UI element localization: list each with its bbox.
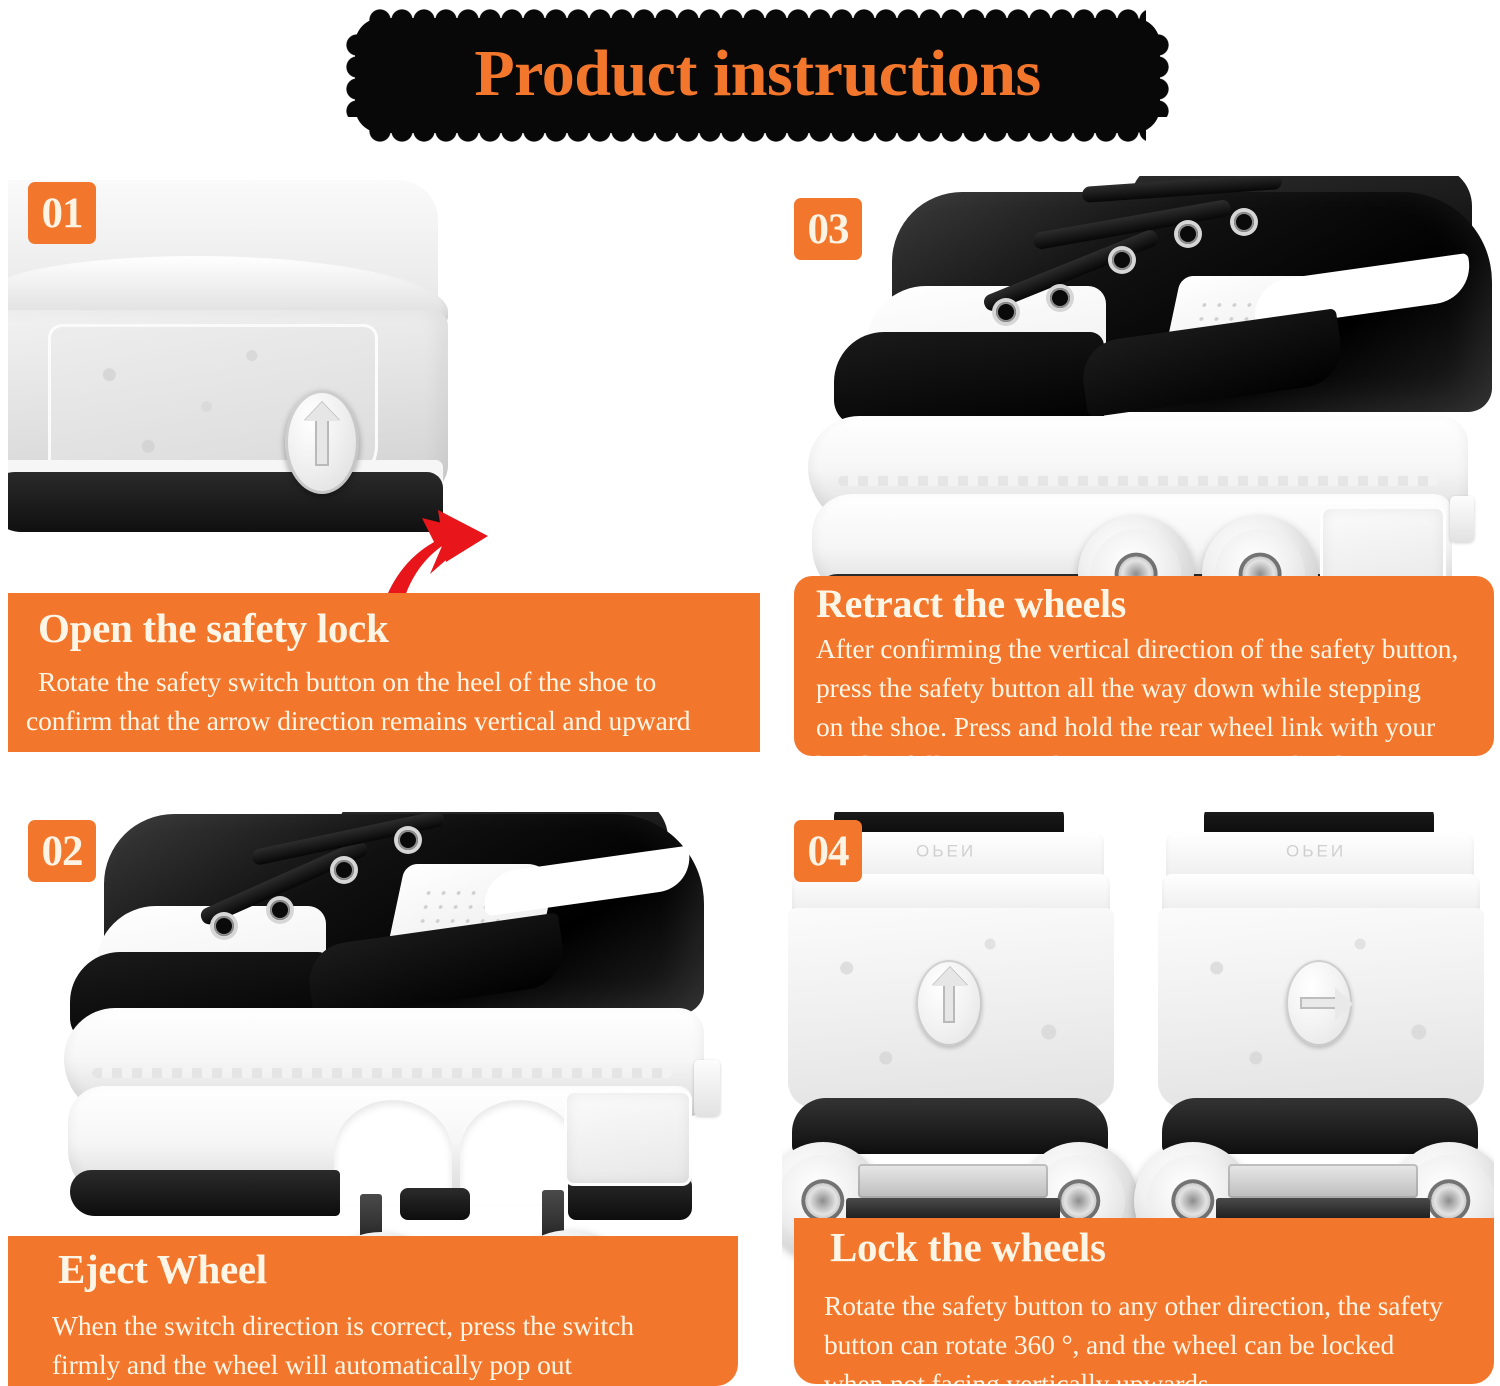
wheel-axle <box>846 1198 1060 1220</box>
sole-texture-line <box>838 476 1438 486</box>
heel-embossed-text: OPEN <box>916 840 976 860</box>
step-panel-01: 01 Open the safety lock Rotate the safet… <box>8 172 760 752</box>
step-02-caption: Eject Wheel When the switch direction is… <box>8 1236 738 1386</box>
lace-eyelet <box>996 302 1016 322</box>
step-01-caption: Open the safety lock Rotate the safety s… <box>8 593 760 752</box>
lace-eyelet <box>1234 212 1254 232</box>
step-03-body-line: on the shoe. Press and hold the rear whe… <box>816 707 1494 746</box>
wheel-axle <box>1216 1198 1430 1220</box>
step-badge-01: 01 <box>28 182 96 244</box>
step-02-body-line: When the switch direction is correct, pr… <box>52 1306 738 1345</box>
heel-embossed-text: OPEN <box>1286 840 1346 860</box>
arrow-up-icon <box>315 418 329 466</box>
step-badge-03: 03 <box>794 198 862 260</box>
step-03-body-line: press the safety button all the way down… <box>816 668 1494 707</box>
step-03-heading: Retract the wheels <box>816 580 1494 629</box>
wheel-link-bar <box>1228 1164 1418 1198</box>
step-03-body-line: After confirming the vertical direction … <box>816 629 1494 668</box>
step-badge-04: 04 <box>794 820 862 882</box>
step-04-body-line: button can rotate 360 °, and the wheel c… <box>824 1325 1494 1364</box>
step-panel-02: 02 Eject Wheel When the switch direction… <box>8 812 738 1370</box>
page-title-banner: Product instructions <box>355 18 1160 133</box>
lace-eyelet <box>334 860 354 880</box>
lace-eyelet <box>214 916 234 936</box>
heel-plate <box>564 1090 692 1186</box>
step-03-caption: Retract the wheels After confirming the … <box>794 576 1494 756</box>
step-panel-03: 03 Retract the wheels After confirming t… <box>782 176 1494 756</box>
arrow-right-icon <box>1300 997 1338 1009</box>
rear-pull-tab <box>1450 496 1474 542</box>
toe-cap-black <box>834 332 1104 426</box>
step-02-heading: Eject Wheel <box>58 1244 738 1294</box>
lace-eyelet <box>1050 288 1070 308</box>
step-04-heading: Lock the wheels <box>830 1222 1494 1272</box>
heel-right: OPEN <box>1158 812 1488 1242</box>
step-04-body-line: Rotate the safety button to any other di… <box>824 1286 1494 1325</box>
step-04-body-line: when not facing vertically upwards <box>824 1364 1494 1384</box>
outsole-dark-front <box>70 1170 340 1216</box>
lace-eyelet <box>1112 250 1132 270</box>
step-01-body-line: confirm that the arrow direction remains… <box>26 701 760 740</box>
arrow-up-icon <box>943 983 955 1023</box>
sole-texture-line <box>92 1068 672 1078</box>
step-03-body-line: hand to fully engage the positioning pin… <box>816 746 1494 756</box>
step-01-body-line: Rotate the safety switch button on the h… <box>38 662 760 701</box>
safety-button-right[interactable] <box>1286 960 1352 1046</box>
step-04-caption: Lock the wheels Rotate the safety button… <box>794 1218 1494 1384</box>
outsole-dark-mid <box>400 1188 470 1220</box>
step-panel-04: OPEN OPEN <box>782 812 1494 1370</box>
page-title: Product instructions <box>355 18 1160 133</box>
rear-pull-tab <box>694 1060 720 1116</box>
lace-eyelet <box>398 830 418 850</box>
step-02-body-line: firmly and the wheel will automatically … <box>52 1345 738 1384</box>
step-badge-02: 02 <box>28 820 96 882</box>
step-01-heading: Open the safety lock <box>38 603 760 653</box>
lace-eyelet <box>1178 224 1198 244</box>
safety-button-up[interactable] <box>916 960 982 1046</box>
wheel-link-bar <box>858 1164 1048 1198</box>
lace-eyelet <box>270 900 290 920</box>
safety-switch-button[interactable] <box>285 390 359 494</box>
